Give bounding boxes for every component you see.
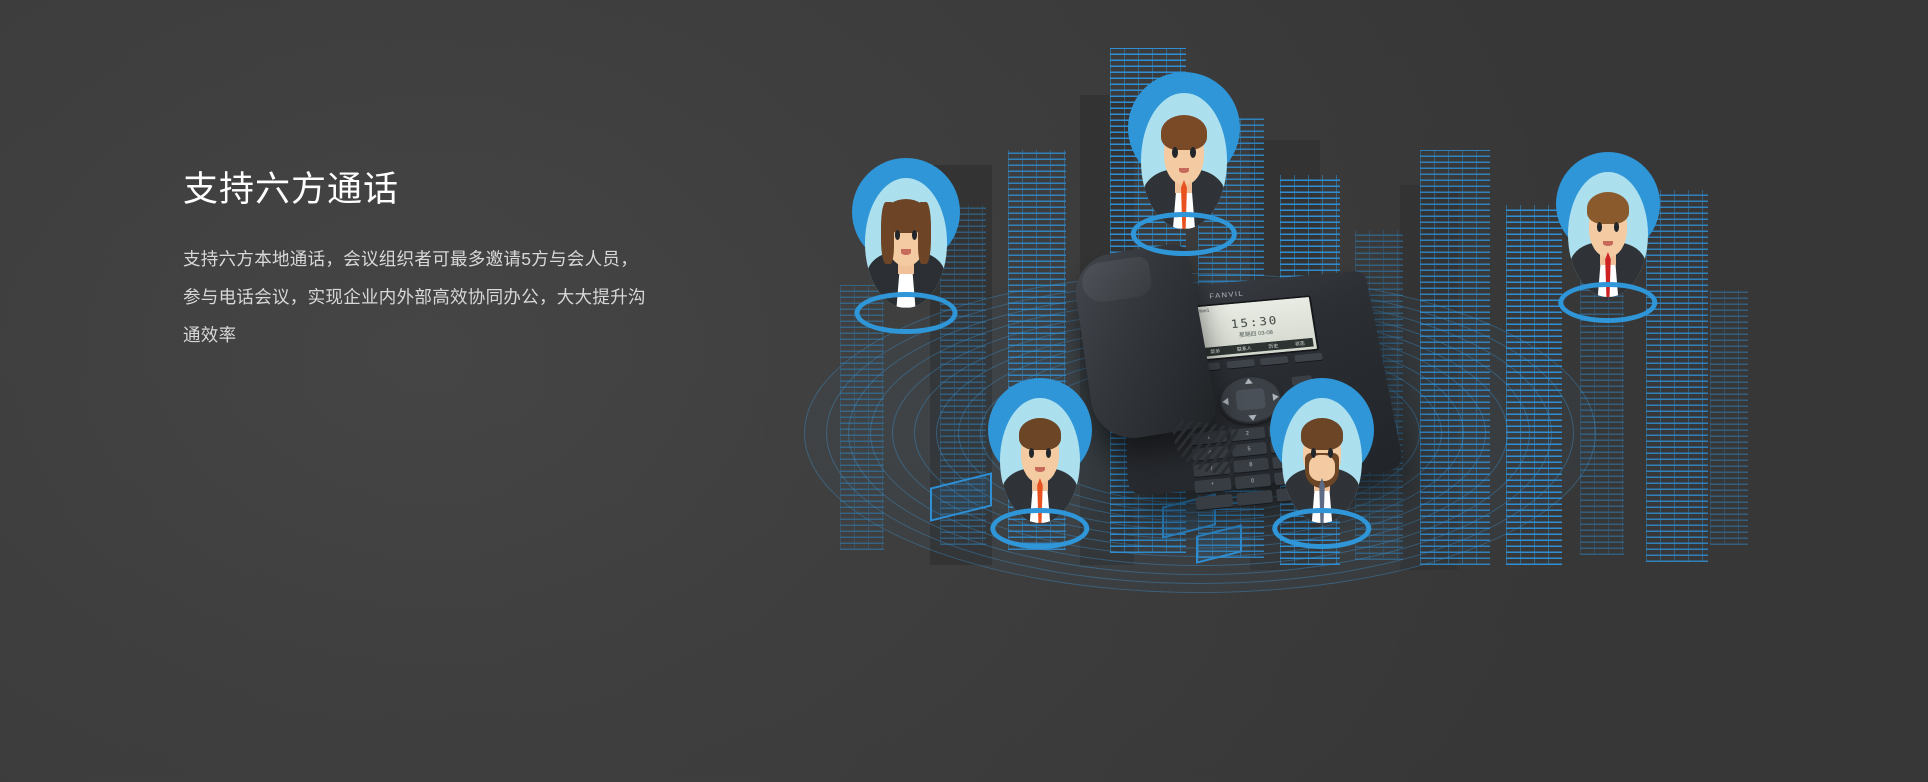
pin-avatar-frame (1141, 93, 1226, 228)
keypad-key-0[interactable]: 0 (1234, 474, 1271, 490)
pin-avatar-frame (1282, 398, 1361, 523)
illustration: FANVIL line1 15:30 星期四 03-08 菜单 联系人 历史 状… (780, 0, 1928, 782)
keypad-key-5[interactable]: 5 (1231, 442, 1267, 457)
ip-desk-phone: FANVIL line1 15:30 星期四 03-08 菜单 联系人 历史 状… (1075, 245, 1435, 515)
participant-pin-right[interactable] (1556, 152, 1660, 317)
phone-handset (1071, 242, 1219, 444)
participant-pin-left[interactable] (852, 158, 960, 328)
nav-down-icon[interactable] (1248, 415, 1257, 421)
nav-up-icon[interactable] (1244, 378, 1253, 384)
keypad-key-*[interactable]: * (1194, 478, 1231, 494)
pin-avatar-frame (1568, 172, 1647, 297)
softkey-button-4[interactable] (1294, 353, 1323, 363)
participant-pin-bottom-left[interactable] (988, 378, 1092, 543)
avatar (1568, 172, 1647, 297)
pin-avatar-frame (865, 178, 947, 307)
participant-pin-bottom-right[interactable] (1270, 378, 1374, 543)
avatar (865, 178, 947, 307)
pin-base-ring (855, 292, 958, 334)
pin-base-ring (1272, 508, 1371, 549)
body-line-2: 参与电话会议，实现企业内外部高效协同办公，大大提升沟 (183, 278, 743, 316)
pin-avatar-frame (1000, 398, 1079, 523)
lcd-softkey-4: 状态 (1295, 340, 1306, 347)
nav-ok-button[interactable] (1236, 388, 1266, 412)
keypad-key-msg[interactable] (1196, 494, 1233, 510)
softkey-button-3[interactable] (1260, 356, 1288, 366)
softkey-button-2[interactable] (1226, 359, 1254, 369)
hero-banner: 支持六方通话 支持六方本地通话，会议组织者可最多邀请5方与会人员， 参与电话会议… (0, 0, 1928, 782)
lcd-softkey-3: 历史 (1268, 342, 1279, 349)
body-line-3: 通效率 (183, 316, 743, 354)
body-line-1: 支持六方本地通话，会议组织者可最多邀请5方与会人员， (183, 240, 743, 278)
lcd-softkey-2: 联系人 (1237, 345, 1252, 352)
avatar (1141, 93, 1226, 228)
nav-left-icon[interactable] (1222, 398, 1229, 406)
avatar (1282, 398, 1361, 523)
lcd-softkey-1: 菜单 (1210, 348, 1220, 355)
lcd-status-line: line1 (1199, 300, 1306, 315)
pin-base-ring (990, 508, 1089, 549)
participant-pin-top-center[interactable] (1128, 72, 1240, 250)
phone-brand-logo: FANVIL (1209, 290, 1244, 300)
pin-base-ring (1558, 282, 1657, 323)
keypad-key-8[interactable]: 8 (1233, 458, 1270, 474)
copy-block: 支持六方通话 支持六方本地通话，会议组织者可最多邀请5方与会人员， 参与电话会议… (183, 168, 743, 354)
avatar (1000, 398, 1079, 523)
page-title: 支持六方通话 (183, 168, 743, 212)
keypad-key-tran[interactable] (1236, 490, 1273, 506)
pin-base-ring (1131, 212, 1237, 256)
phone-lcd-screen: line1 15:30 星期四 03-08 菜单 联系人 历史 状态 (1193, 295, 1319, 361)
